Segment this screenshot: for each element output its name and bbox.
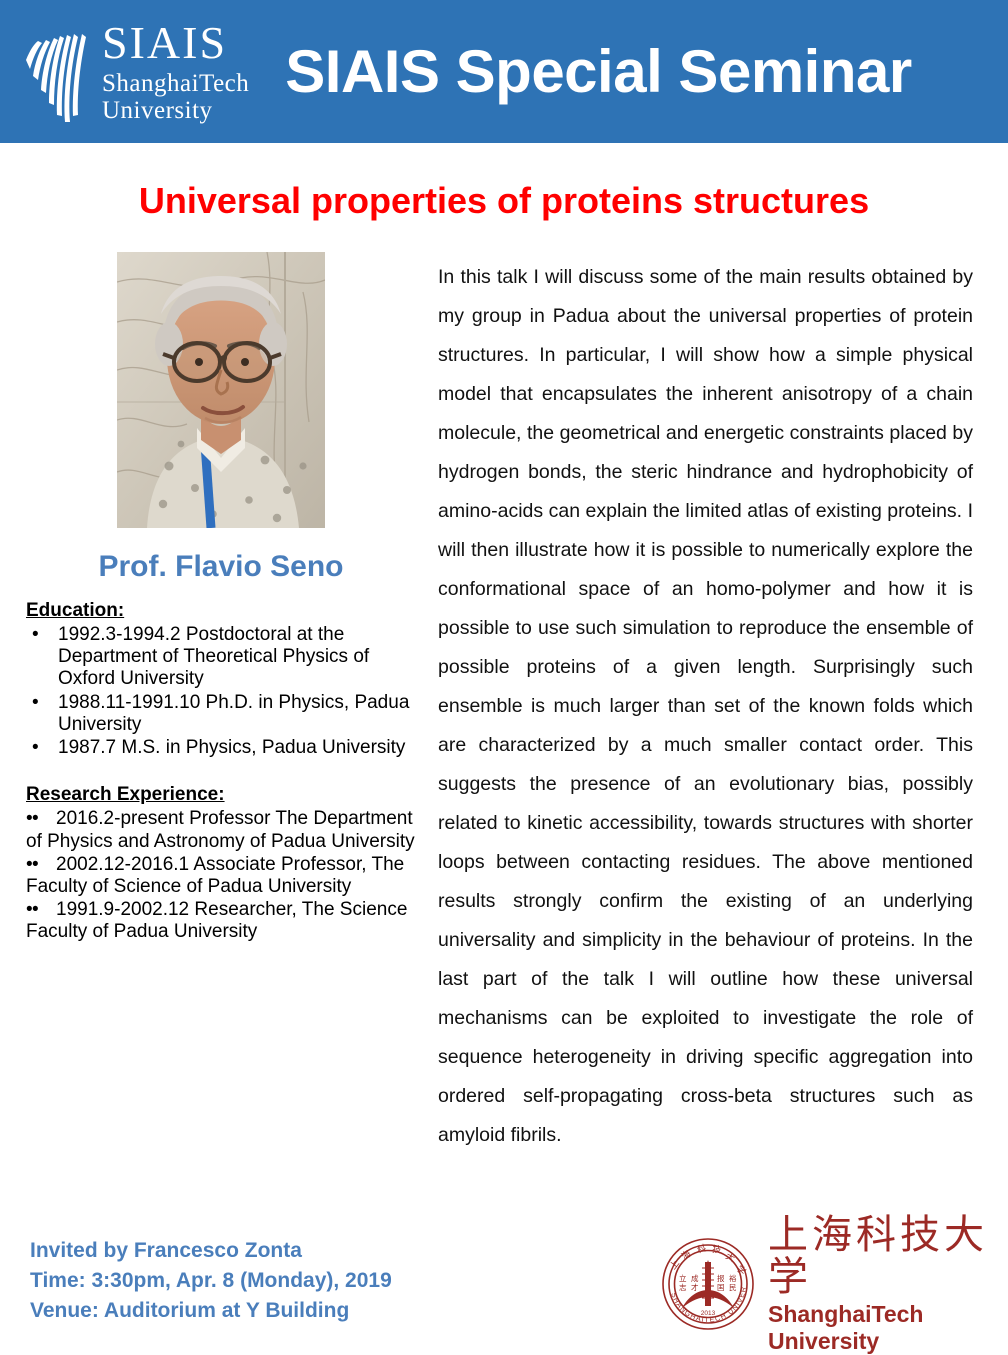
page-title: Universal properties of proteins structu… [0, 180, 1008, 222]
venue-line: Venue: Auditorium at Y Building [30, 1296, 392, 1326]
research-heading: Research Experience: [26, 784, 416, 806]
svg-text:国: 国 [717, 1283, 725, 1292]
list-item: 1992.3-1994.2 Postdoctoral at the Depart… [26, 624, 416, 691]
list-item: •2016.2-present Professor The Department… [26, 808, 416, 852]
list-item-text: 2002.12-2016.1 Associate Professor, The … [26, 854, 404, 897]
header-title: SIAIS Special Seminar [285, 37, 911, 106]
siais-logo: SIAIS ShanghaiTech University [22, 12, 249, 132]
abstract-text: In this talk I will discuss some of the … [438, 258, 973, 1155]
shanghaitech-english-name: ShanghaiTech University [768, 1301, 1008, 1355]
list-item-text: 2016.2-present Professor The Department … [26, 808, 415, 851]
list-item: 1987.7 M.S. in Physics, Padua University [26, 737, 416, 759]
invited-by-line: Invited by Francesco Zonta [30, 1236, 392, 1266]
svg-text:技: 技 [712, 1243, 722, 1256]
shanghaitech-chinese-name: 上海科技大学 [768, 1214, 1008, 1298]
header-band: SIAIS ShanghaiTech University SIAIS Spec… [0, 0, 1008, 143]
svg-text:科: 科 [696, 1242, 708, 1256]
section-spacer [26, 760, 416, 782]
svg-text:民: 民 [729, 1283, 737, 1292]
svg-text:成: 成 [691, 1273, 699, 1283]
education-list: 1992.3-1994.2 Postdoctoral at the Depart… [26, 624, 416, 759]
event-details: Invited by Francesco Zonta Time: 3:30pm,… [30, 1236, 392, 1325]
list-item: •1991.9-2002.12 Researcher, The Science … [26, 899, 416, 943]
bullet-dot: • [26, 808, 56, 830]
speaker-name: Prof. Flavio Seno [26, 550, 416, 584]
svg-text:立: 立 [679, 1273, 687, 1283]
shanghaitech-seal-icon: SHANGHAITECH UNIVERSITY 上 海 科 技 大 学 立志 成… [660, 1236, 756, 1332]
education-heading: Education: [26, 600, 416, 622]
logo-shanghaitech: ShanghaiTech [102, 71, 249, 96]
speaker-photo [117, 252, 325, 528]
list-item-text: 1991.9-2002.12 Researcher, The Science F… [26, 899, 407, 942]
list-item: •2002.12-2016.1 Associate Professor, The… [26, 854, 416, 898]
svg-text:裕: 裕 [729, 1273, 737, 1283]
seal-year: 2013 [701, 1310, 716, 1317]
research-list: •2016.2-present Professor The Department… [26, 808, 416, 943]
speaker-column: Prof. Flavio Seno Education: 1992.3-1994… [26, 252, 416, 945]
logo-university: University [102, 98, 249, 123]
list-item: 1988.11-1991.10 Ph.D. in Physics, Padua … [26, 692, 416, 736]
shanghaitech-logo: SHANGHAITECH UNIVERSITY 上 海 科 技 大 学 立志 成… [660, 1234, 1008, 1334]
svg-text:志: 志 [679, 1282, 687, 1292]
siais-stripes-mark-icon [22, 16, 92, 128]
logo-acronym: SIAIS [102, 20, 249, 66]
svg-text:报: 报 [717, 1273, 725, 1283]
shanghaitech-wordmark: 上海科技大学 ShanghaiTech University [768, 1214, 1008, 1355]
siais-logo-words: SIAIS ShanghaiTech University [102, 20, 249, 123]
svg-text:才: 才 [691, 1282, 699, 1292]
bullet-dot: • [26, 899, 56, 921]
svg-text:大: 大 [724, 1250, 737, 1265]
time-line: Time: 3:30pm, Apr. 8 (Monday), 2019 [30, 1266, 392, 1296]
bullet-dot: • [26, 854, 56, 876]
